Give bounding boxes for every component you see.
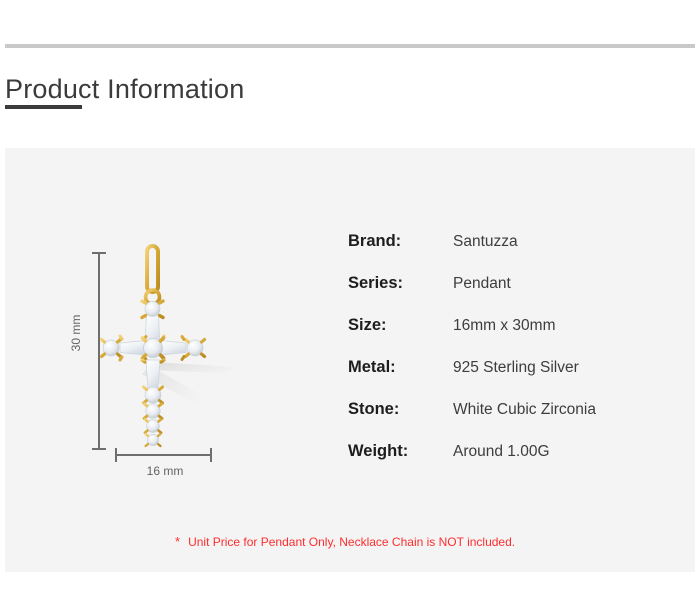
spec-value-series: Pendant [453,275,511,293]
cross-stem-stones [144,387,163,446]
spec-value-metal: 925 Sterling Silver [453,359,579,377]
spec-label-stone: Stone: [348,400,399,419]
width-dimension-rule [115,454,212,456]
cross-center-stone [143,338,164,358]
spec-row-brand: Brand: Santuzza [348,232,668,274]
spec-label-brand: Brand: [348,232,401,251]
width-dimension-cap-right [210,448,212,462]
spec-label-size: Size: [348,316,387,335]
spec-row-weight: Weight: Around 1.00G [348,442,668,484]
spec-value-stone: White Cubic Zirconia [453,401,596,419]
price-disclaimer-note: *Unit Price for Pendant Only, Necklace C… [175,534,515,549]
cross-right-arm-stone [160,336,205,360]
spec-value-brand: Santuzza [453,233,518,251]
spec-label-series: Series: [348,274,403,293]
asterisk-marker: * [175,534,180,549]
spec-value-size: 16mm x 30mm [453,317,556,335]
price-disclaimer-text: Unit Price for Pendant Only, Necklace Ch… [188,535,515,549]
height-dimension-label: 30 mm [69,303,83,363]
product-image-block: 30 mm 16 mm [60,240,290,480]
spec-value-weight: Around 1.00G [453,443,550,461]
top-divider [5,44,695,48]
width-dimension-label: 16 mm [100,464,230,478]
width-dimension-line [115,448,212,462]
page-title: Product Information [5,74,244,105]
spec-row-metal: Metal: 925 Sterling Silver [348,358,668,400]
cross-left-arm-stone [102,336,147,360]
spec-row-stone: Stone: White Cubic Zirconia [348,400,668,442]
spec-row-series: Series: Pendant [348,274,668,316]
cross-pendant-image [98,240,278,450]
spec-label-weight: Weight: [348,442,408,461]
pendant-bail [146,246,160,304]
spec-label-metal: Metal: [348,358,396,377]
page-title-underline [5,105,82,109]
product-spec-list: Brand: Santuzza Series: Pendant Size: 16… [348,232,668,484]
spec-row-size: Size: 16mm x 30mm [348,316,668,358]
